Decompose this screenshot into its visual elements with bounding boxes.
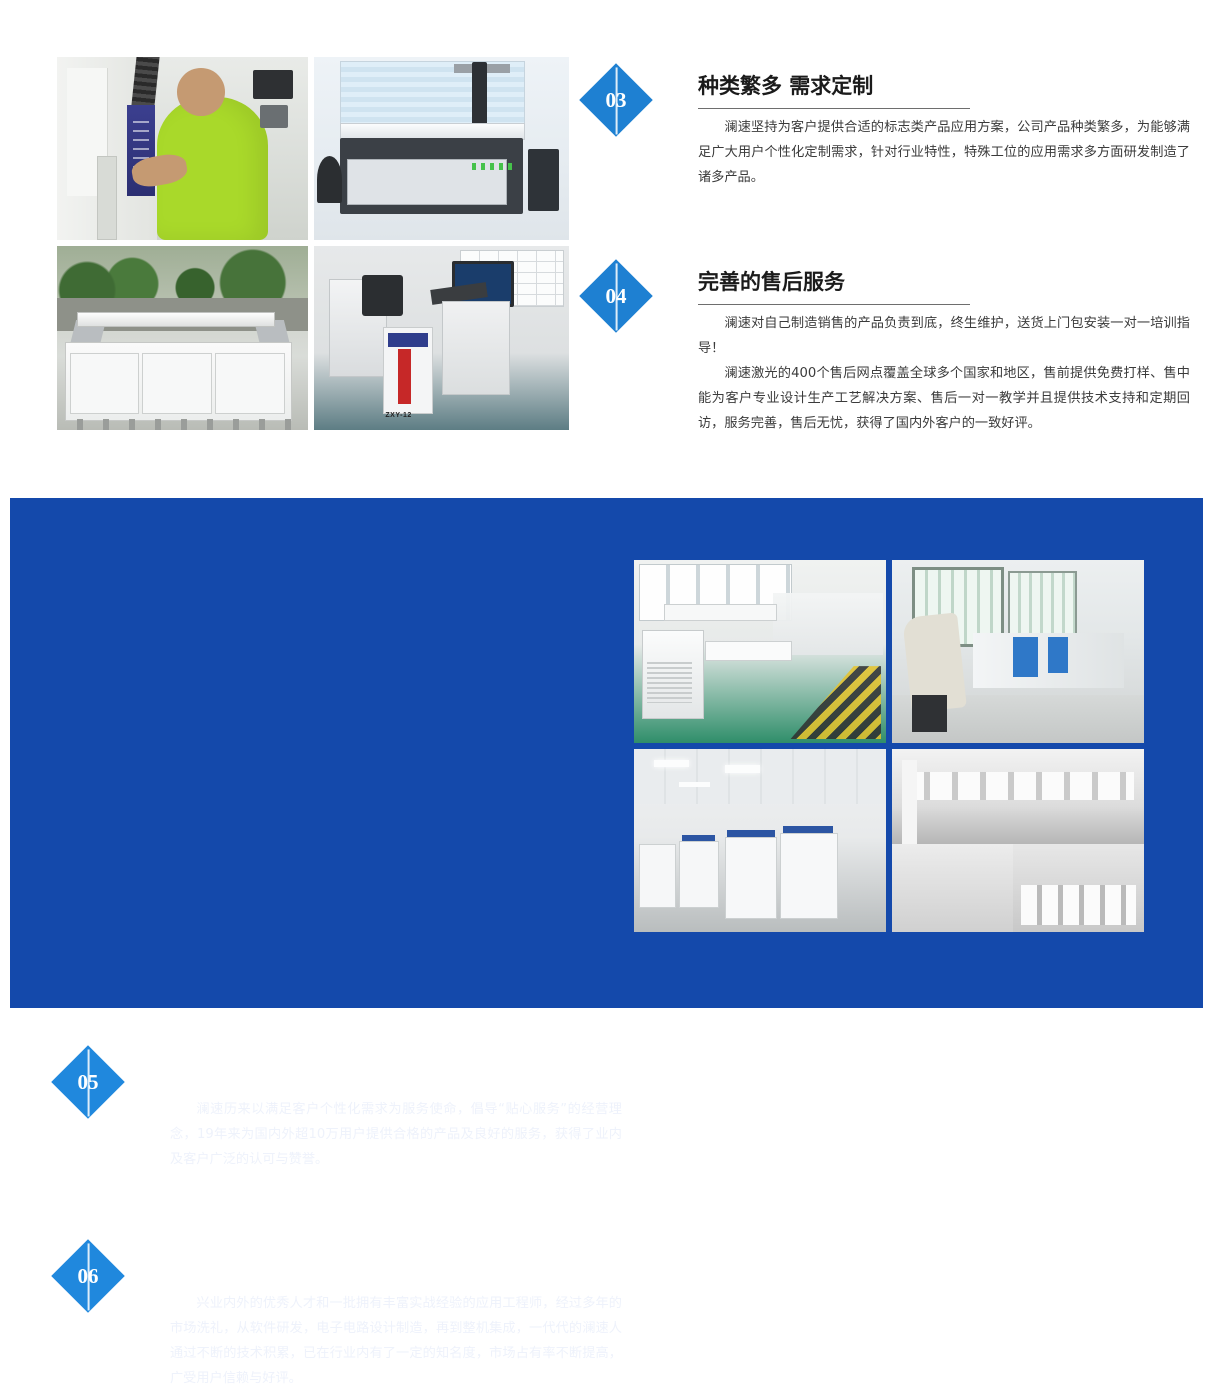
feature-paragraph: 兴业内外的优秀人才和一批拥有丰富实战经验的应用工程师，经过多年的市场洗礼，从软件… [170, 1291, 622, 1391]
badge-05: 05 [51, 1045, 125, 1119]
feature-paragraph: 澜速激光的400个售后网点覆盖全球多个国家和地区，售前提供免费打样、售中能为客户… [698, 361, 1190, 436]
feature-title-05: 服务超10+客户，深受广大消费者喜爱 [170, 1056, 622, 1081]
photo-robot-arm-production-line [892, 560, 1144, 743]
feature-text-04: 澜速对自己制造销售的产品负责到底，终生维护，送货上门包安装一对一培训指导！ 澜速… [698, 311, 1190, 436]
feature-text-03: 澜速坚持为客户提供合适的标志类产品应用方案，公司产品种类繁多，为能够满足广大用户… [698, 115, 1190, 190]
feature-divider-06 [170, 1284, 406, 1285]
feature-block-06: 06 CE认证，出口品质 兴业内外的优秀人才和一批拥有丰富实战经验的应用工程师，… [62, 1250, 622, 1391]
feature-divider-03 [698, 108, 970, 109]
feature-text-05: 澜速历来以满足客户个性化需求为服务使命，倡导“贴心服务”的经营理念，19年来为国… [170, 1097, 622, 1172]
top-white-section: ZXY-12 03 种类繁多 需求定制 澜速坚持为客户提供合适的标志类产品应用方… [0, 0, 1208, 498]
feature-divider-04 [698, 304, 970, 305]
feature-block-04: 04 完善的售后服务 澜速对自己制造销售的产品负责到底，终生维护，送货上门包安装… [590, 270, 1190, 436]
bottom-photo-grid [634, 560, 1144, 932]
top-photo-grid: ZXY-12 [57, 57, 569, 430]
feature-text-06: 兴业内外的优秀人才和一批拥有丰富实战经验的应用工程师，经过多年的市场洗礼，从软件… [170, 1291, 622, 1391]
feature-block-03: 03 种类繁多 需求定制 澜速坚持为客户提供合适的标志类产品应用方案，公司产品种… [590, 74, 1190, 190]
photo-outdoor-wide-platform-machine [57, 246, 308, 430]
photo-indoor-factory-floor [634, 749, 886, 932]
photo-engineer-beside-machine [57, 57, 308, 240]
machine-model-label: ZXY-12 [385, 412, 411, 419]
badge-number-06: 06 [62, 1250, 114, 1302]
product-feature-page: ZXY-12 03 种类繁多 需求定制 澜速坚持为客户提供合适的标志类产品应用方… [0, 0, 1208, 1020]
photo-laser-welding-workstation: ZXY-12 [314, 246, 569, 430]
feature-paragraph: 澜速历来以满足客户个性化需求为服务使命，倡导“贴心服务”的经营理念，19年来为国… [170, 1097, 622, 1172]
photo-grayscale-factory-panorama [892, 749, 1144, 932]
feature-title-04: 完善的售后服务 [698, 270, 1190, 295]
badge-06: 06 [51, 1239, 125, 1313]
badge-number-05: 05 [62, 1056, 114, 1108]
feature-paragraph: 澜速坚持为客户提供合适的标志类产品应用方案，公司产品种类繁多，为能够满足广大用户… [698, 115, 1190, 190]
photo-workshop-white-welders [634, 560, 886, 743]
photo-gantry-marking-machine [314, 57, 569, 240]
feature-paragraph: 澜速对自己制造销售的产品负责到底，终生维护，送货上门包安装一对一培训指导！ [698, 311, 1190, 361]
feature-title-06: CE认证，出口品质 [170, 1250, 622, 1275]
badge-number-03: 03 [590, 74, 642, 126]
feature-title-03: 种类繁多 需求定制 [698, 74, 1190, 99]
badge-number-04: 04 [590, 270, 642, 322]
badge-04: 04 [579, 259, 653, 333]
feature-block-05: 05 服务超10+客户，深受广大消费者喜爱 澜速历来以满足客户个性化需求为服务使… [62, 1056, 622, 1172]
feature-divider-05 [170, 1090, 402, 1091]
blue-highlight-band: 05 服务超10+客户，深受广大消费者喜爱 澜速历来以满足客户个性化需求为服务使… [10, 498, 1203, 1008]
badge-03: 03 [579, 63, 653, 137]
